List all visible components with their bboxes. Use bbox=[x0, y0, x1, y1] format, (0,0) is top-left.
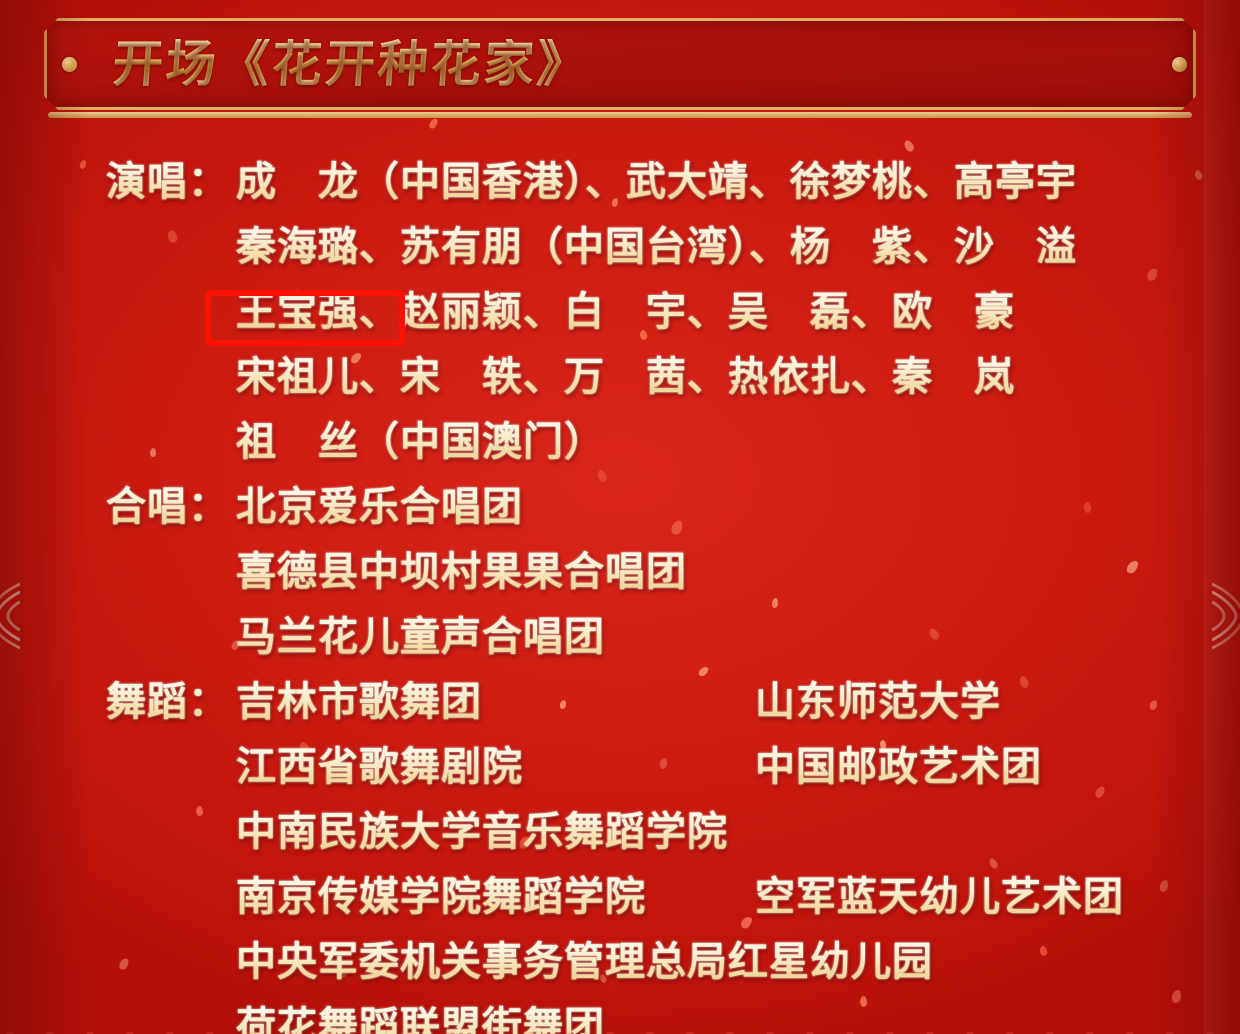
credit-role-label: 舞蹈： bbox=[106, 670, 236, 734]
credit-names: 秦海璐、苏有朋（中国台湾）、杨 紫、沙 溢 bbox=[236, 215, 1077, 279]
credit-names: 喜德县中坝村果果合唱团 bbox=[236, 540, 687, 604]
credit-row: 舞蹈：吉林市歌舞团山东师范大学 bbox=[0, 670, 1240, 735]
credit-names-column2: 山东师范大学 bbox=[755, 670, 1001, 734]
confetti-petal bbox=[428, 117, 440, 130]
credit-row: 舞蹈：南京传媒学院舞蹈学院空军蓝天幼儿艺术团 bbox=[0, 865, 1240, 930]
credit-names: 成 龙（中国香港）、武大靖、徐梦桃、高亭宇 bbox=[236, 150, 1077, 214]
credit-row: 演唱：宋祖儿、宋 轶、万 茜、热依扎、秦 岚 bbox=[0, 345, 1240, 410]
program-title-plaque: 开场《花开种花家》 bbox=[44, 18, 1196, 110]
gold-stud-icon bbox=[1172, 57, 1187, 72]
credit-names: 中央军委机关事务管理总局红星幼儿园 bbox=[236, 930, 933, 994]
right-edge-seam bbox=[1204, 0, 1240, 1034]
page-title: 开场《花开种花家》 bbox=[111, 39, 591, 89]
credit-names: 北京爱乐合唱团 bbox=[236, 475, 523, 539]
credit-row: 舞蹈：荷花舞蹈联盟街舞团 bbox=[0, 995, 1240, 1034]
credit-names: 王宝强、赵丽颖、白 宇、吴 磊、欧 豪 bbox=[236, 280, 1015, 344]
plaque-underline-divider bbox=[48, 112, 1192, 118]
credit-names: 荷花舞蹈联盟街舞团 bbox=[236, 995, 605, 1034]
credit-names: 吉林市歌舞团 bbox=[236, 670, 482, 734]
credit-row: 舞蹈：中央军委机关事务管理总局红星幼儿园 bbox=[0, 930, 1240, 995]
credit-names: 南京传媒学院舞蹈学院 bbox=[236, 865, 646, 929]
credit-row: 合唱：北京爱乐合唱团 bbox=[0, 475, 1240, 540]
credit-role-label: 合唱： bbox=[106, 475, 236, 539]
gold-stud-icon bbox=[62, 57, 77, 72]
credit-row: 合唱：马兰花儿童声合唱团 bbox=[0, 605, 1240, 670]
credit-role-label: 演唱： bbox=[106, 150, 236, 214]
credit-names: 江西省歌舞剧院 bbox=[236, 735, 523, 799]
credit-row: 合唱：喜德县中坝村果果合唱团 bbox=[0, 540, 1240, 605]
credit-names: 宋祖儿、宋 轶、万 茜、热依扎、秦 岚 bbox=[236, 345, 1015, 409]
credits-list: 演唱：成 龙（中国香港）、武大靖、徐梦桃、高亭宇演唱：秦海璐、苏有朋（中国台湾）… bbox=[0, 150, 1240, 1034]
credit-row: 演唱：秦海璐、苏有朋（中国台湾）、杨 紫、沙 溢 bbox=[0, 215, 1240, 280]
credit-row: 演唱：祖 丝（中国澳门） bbox=[0, 410, 1240, 475]
gala-rundown-screen: 开场《花开种花家》 演唱：成 龙（中国香港）、武大靖、徐梦桃、高亭宇演唱：秦海璐… bbox=[0, 0, 1240, 1034]
credit-names: 中南民族大学音乐舞蹈学院 bbox=[236, 800, 728, 864]
credit-names: 马兰花儿童声合唱团 bbox=[236, 605, 605, 669]
credit-row: 演唱：王宝强、赵丽颖、白 宇、吴 磊、欧 豪 bbox=[0, 280, 1240, 345]
credit-row: 舞蹈：江西省歌舞剧院中国邮政艺术团 bbox=[0, 735, 1240, 800]
credit-names-column2: 中国邮政艺术团 bbox=[755, 735, 1042, 799]
credit-names-column2: 空军蓝天幼儿艺术团 bbox=[755, 865, 1124, 929]
credit-row: 演唱：成 龙（中国香港）、武大靖、徐梦桃、高亭宇 bbox=[0, 150, 1240, 215]
credit-names: 祖 丝（中国澳门） bbox=[236, 410, 605, 474]
credit-row: 舞蹈：中南民族大学音乐舞蹈学院 bbox=[0, 800, 1240, 865]
